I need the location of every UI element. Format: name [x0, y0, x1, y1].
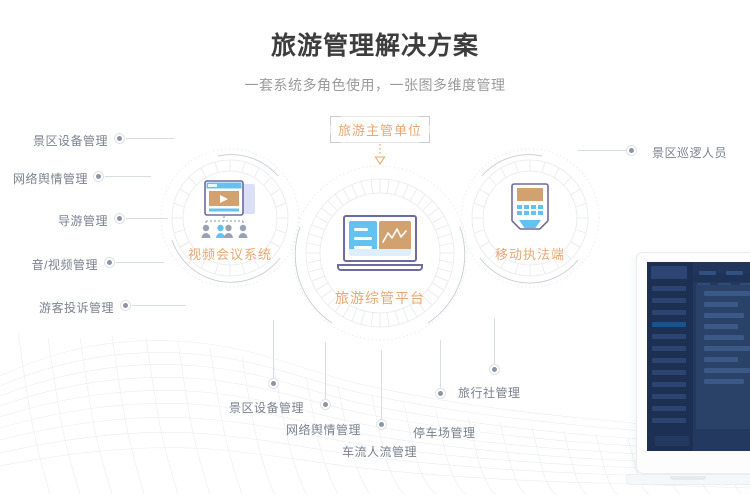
video-conference-icon-wrap — [160, 180, 300, 242]
left-label-2: 导游管理 — [18, 212, 108, 229]
box-corner-tr — [419, 116, 430, 125]
sidebar-menu-item — [652, 334, 686, 339]
box-edge-right — [429, 125, 430, 134]
laptop-screen — [343, 215, 417, 262]
bottom-dot-3[interactable] — [435, 388, 446, 399]
dashboard-main — [693, 262, 750, 451]
bottom-line-4 — [494, 318, 495, 364]
left-line-1 — [105, 176, 151, 177]
sidebar-menu-item — [652, 418, 686, 423]
video-conference-icon — [193, 180, 267, 242]
bottom-label-0: 景区设备管理 — [229, 399, 304, 416]
handheld-terminal-icon — [508, 182, 552, 238]
mobile-enforcement-label: 移动执法端 — [460, 244, 600, 263]
laptop-bezel — [636, 252, 750, 474]
sidebar-menu-item — [652, 310, 686, 315]
sidebar-menu-item — [652, 286, 686, 291]
sidebar-menu-item — [652, 298, 686, 303]
sidebar-menu-item-active — [652, 322, 686, 327]
page-subtitle: 一套系统多角色使用，一张图多维度管理 — [0, 75, 750, 95]
left-dot-3[interactable] — [104, 257, 115, 268]
node-platform[interactable]: 旅游综管平台 — [292, 165, 468, 341]
sidebar-menu-item — [652, 394, 686, 399]
bottom-dot-0[interactable] — [268, 378, 279, 389]
left-line-0 — [126, 138, 174, 139]
box-corner-tl — [330, 116, 341, 125]
node-video-conference[interactable]: 视频会议系统 — [160, 148, 300, 288]
node-mobile-enforcement[interactable]: 移动执法端 — [460, 148, 600, 288]
tree-row — [704, 368, 750, 373]
authority-label: 旅游主管单位 — [338, 120, 422, 139]
dashboard-app-screen — [647, 262, 750, 451]
left-dot-4[interactable] — [120, 300, 131, 311]
tree-row — [704, 291, 750, 296]
bottom-dot-1[interactable] — [320, 399, 331, 410]
bottom-label-2: 车流人流管理 — [342, 443, 417, 460]
tree-row — [704, 346, 750, 351]
dashboard-laptop-mockup — [636, 252, 750, 498]
bottom-line-2 — [381, 350, 382, 419]
platform-label: 旅游综管平台 — [292, 288, 468, 308]
right-label-0: 景区巡逻人员 — [652, 144, 727, 161]
bottom-label-1: 网络舆情管理 — [286, 421, 361, 438]
sidebar-menu-item — [652, 406, 686, 411]
laptop-base — [337, 264, 423, 271]
page-title: 旅游管理解决方案 — [0, 26, 750, 62]
bottom-label-3: 停车场管理 — [413, 424, 476, 441]
left-label-3: 音/视频管理 — [8, 256, 98, 273]
dashboard-brand — [651, 266, 687, 279]
left-dot-1[interactable] — [93, 171, 104, 182]
laptop-icon — [337, 215, 423, 273]
sidebar-menu-item — [652, 358, 686, 363]
video-conference-label: 视频会议系统 — [160, 244, 300, 263]
left-line-4 — [132, 305, 186, 306]
left-label-0: 景区设备管理 — [18, 132, 108, 149]
box-edge-top — [341, 116, 419, 117]
bottom-line-1 — [325, 342, 326, 399]
sidebar-menu-item — [652, 382, 686, 387]
tree-row — [704, 313, 744, 318]
bottom-label-4: 旅行社管理 — [458, 384, 521, 401]
right-dot-0[interactable] — [626, 145, 637, 156]
left-dot-0[interactable] — [114, 133, 125, 144]
dashboard-content — [693, 282, 750, 451]
dashboard-topbar — [693, 262, 750, 273]
bottom-line-0 — [273, 320, 274, 378]
mobile-enforcement-icon-wrap — [460, 182, 600, 238]
left-dot-2[interactable] — [114, 213, 125, 224]
tree-row — [704, 379, 744, 384]
laptop-strip — [349, 249, 411, 256]
right-line-0 — [578, 150, 626, 151]
left-line-3 — [116, 262, 164, 263]
tree-row — [704, 335, 744, 340]
line-chart-icon — [379, 221, 411, 250]
dashboard-tree-panel — [696, 285, 750, 429]
laptop-notch — [670, 476, 706, 480]
left-label-4: 游客投诉管理 — [24, 299, 114, 316]
tree-row — [704, 302, 738, 307]
left-line-2 — [126, 218, 168, 219]
chart-pane — [379, 221, 411, 250]
infographic-canvas: 旅游管理解决方案 一套系统多角色使用，一张图多维度管理 旅游主管单位 — [0, 0, 750, 498]
sidebar-footer — [655, 436, 689, 446]
sidebar-menu-item — [652, 346, 686, 351]
sidebar-menu-item — [652, 370, 686, 375]
dashboard-sidebar — [647, 262, 691, 451]
box-edge-left — [330, 125, 331, 134]
bottom-dot-4[interactable] — [489, 364, 500, 375]
bottom-line-3 — [440, 340, 441, 388]
tree-row — [704, 357, 738, 362]
header: 旅游管理解决方案 一套系统多角色使用，一张图多维度管理 — [0, 0, 750, 95]
platform-icon-wrap — [292, 215, 468, 273]
box-corner-bl — [330, 134, 341, 143]
list-pane — [349, 221, 377, 250]
tree-row — [704, 324, 738, 329]
box-corner-br — [419, 134, 430, 143]
box-edge-bottom — [341, 142, 419, 143]
dashboard-breadcrumbs — [693, 273, 750, 282]
left-label-1: 网络舆情管理 — [0, 170, 88, 187]
bottom-dot-2[interactable] — [376, 419, 387, 430]
authority-box[interactable]: 旅游主管单位 — [330, 116, 430, 143]
